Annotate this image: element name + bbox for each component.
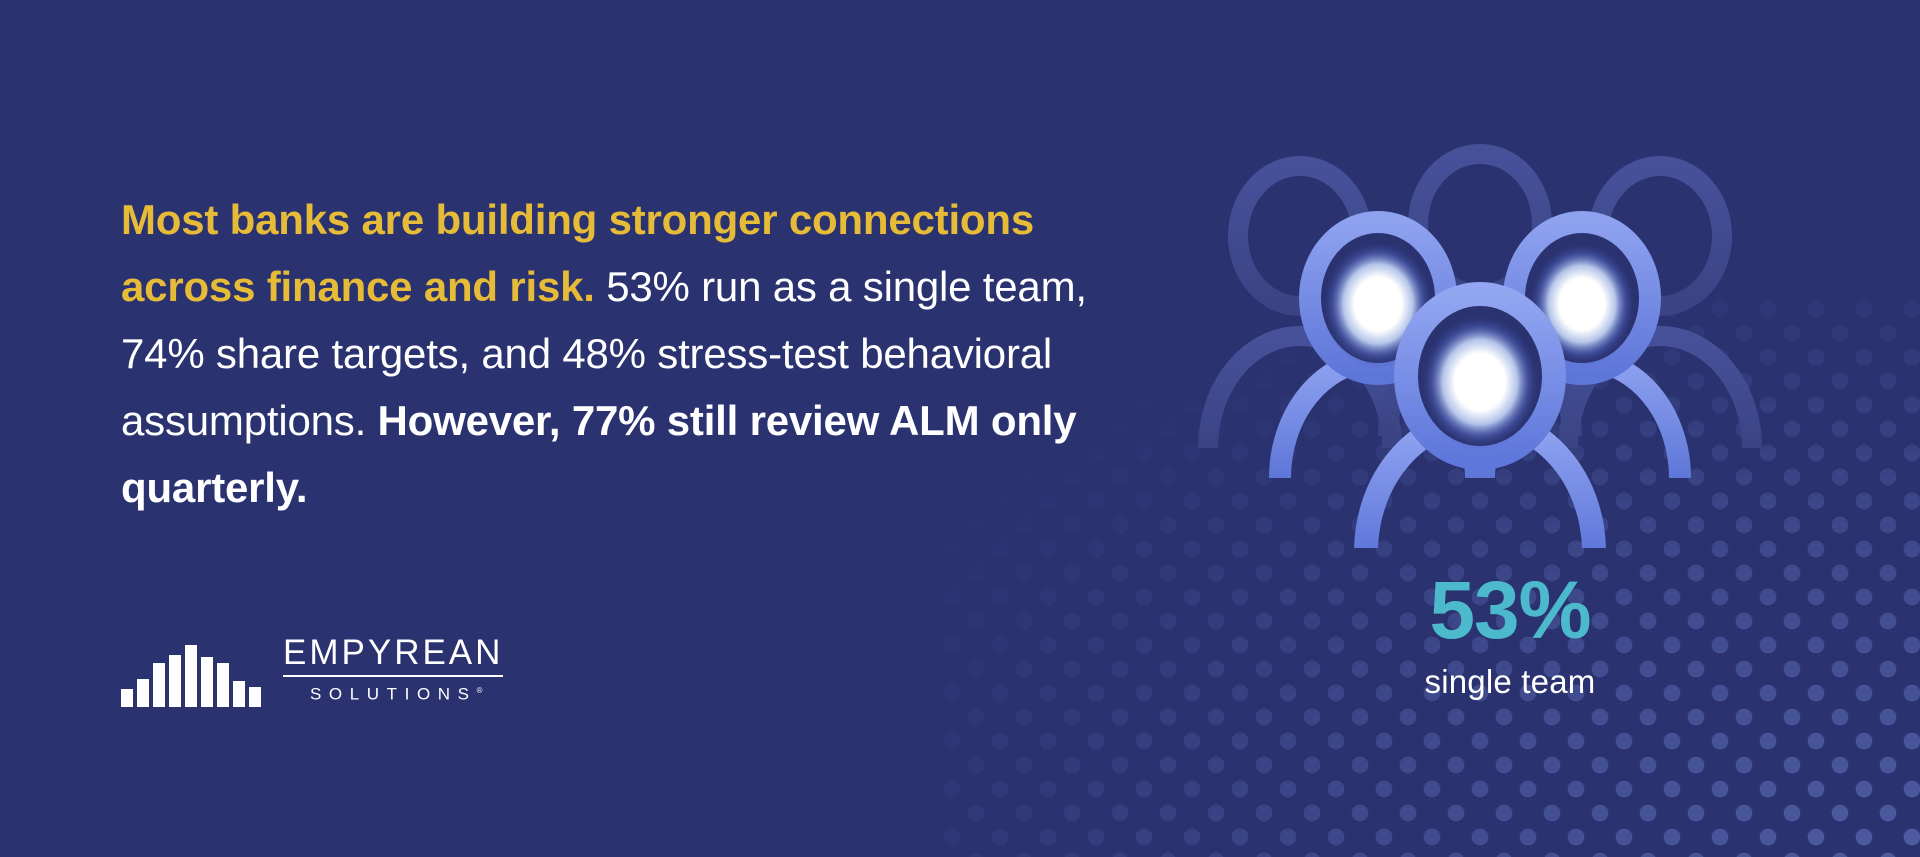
infographic-canvas: Most banks are building stronger connect…	[0, 0, 1920, 857]
stat-callout: 53% single team	[1300, 570, 1720, 702]
logo-wordmark: EMPYREAN SOLUTIONS®	[283, 634, 503, 707]
glowing-head	[1420, 314, 1540, 450]
logo-bar	[169, 655, 181, 707]
logo-name: EMPYREAN	[283, 634, 503, 672]
logo-bar	[185, 645, 197, 707]
logo-bar	[121, 689, 133, 707]
bar-chart-logo-mark	[121, 645, 261, 707]
logo-bar	[153, 663, 165, 707]
logo-bar	[249, 687, 261, 707]
group-of-people-icon	[1180, 128, 1780, 548]
logo-bar	[233, 681, 245, 707]
logo-subtitle: SOLUTIONS®	[283, 681, 503, 705]
logo-divider-rule	[283, 675, 503, 677]
stat-value: 53%	[1300, 570, 1720, 652]
registered-trademark-icon: ®	[477, 686, 483, 695]
headline-paragraph: Most banks are building stronger connect…	[121, 186, 1131, 521]
stat-label: single team	[1300, 662, 1720, 702]
logo-bar	[201, 657, 213, 707]
logo-bar	[217, 663, 229, 707]
logo-bar	[137, 679, 149, 707]
copy-block: Most banks are building stronger connect…	[121, 186, 1131, 521]
empyrean-solutions-logo: EMPYREAN SOLUTIONS®	[121, 634, 503, 707]
logo-subtitle-text: SOLUTIONS	[310, 685, 477, 704]
